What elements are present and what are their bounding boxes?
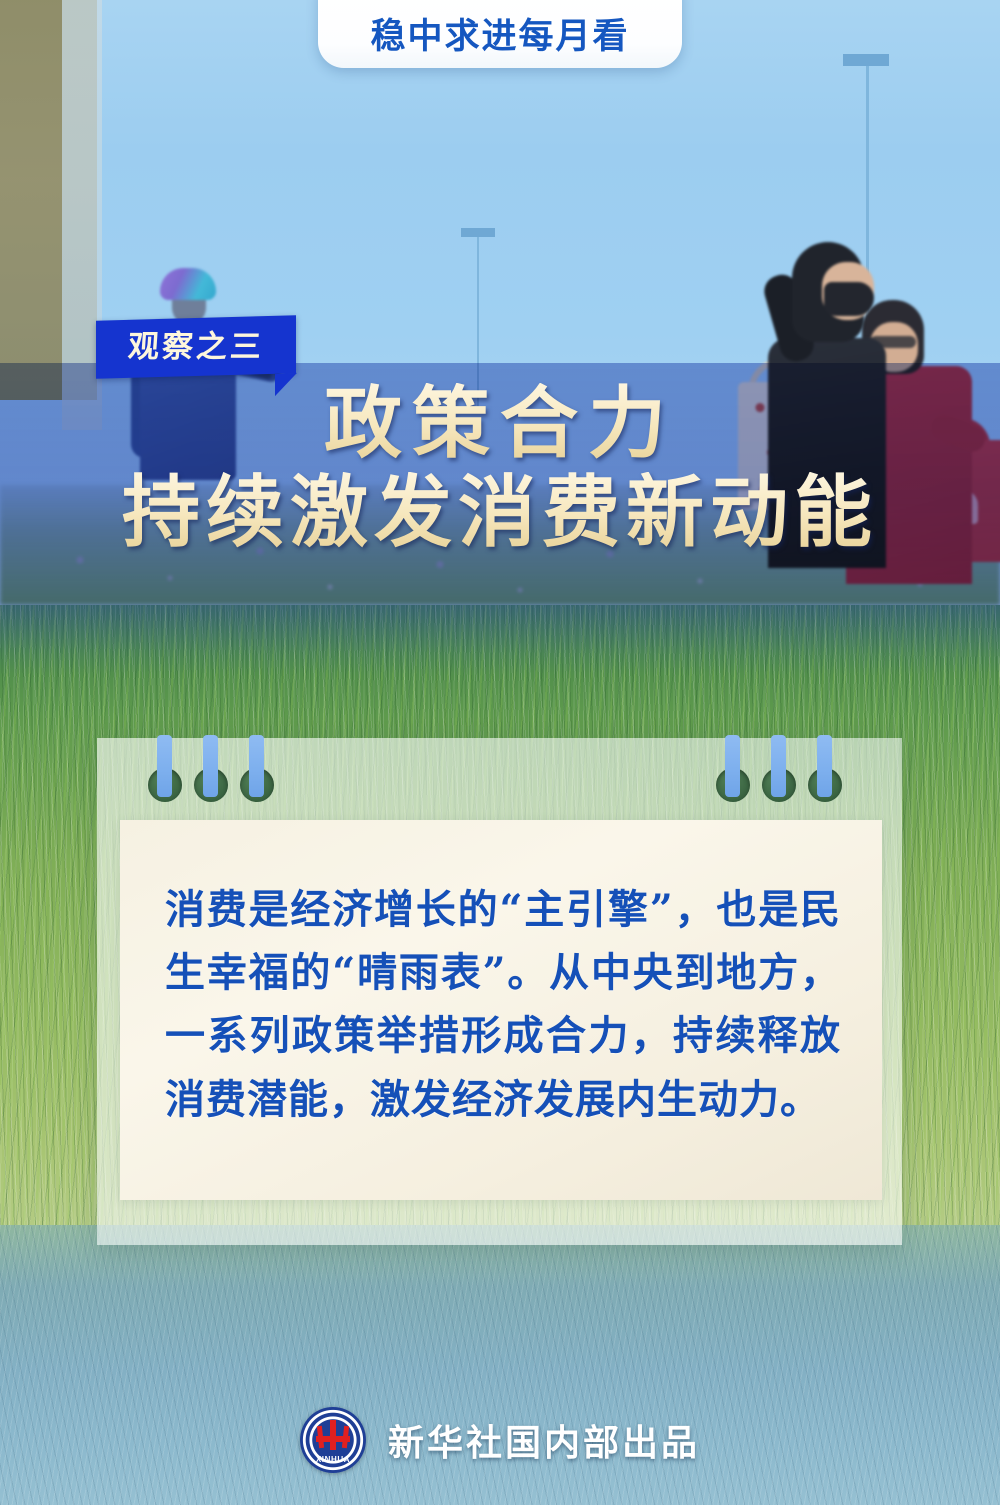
grass-top-haze [0,605,1000,675]
title-line-2: 持续激发消费新动能 [0,472,1000,555]
observation-ribbon: 观察之三 [96,318,296,376]
card-body-text: 消费是经济增长的“主引擎”，也是民生幸福的“晴雨表”。从中央到地方，一系列政策举… [165,878,841,1131]
binder-clip-right-1 [725,735,740,797]
xinhua-logo-wordmark: XINHUA [300,1455,366,1464]
title-line-1: 政策合力 [0,383,1000,466]
binder-clip-left-1 [157,735,172,797]
footer-producer-label: 新华社国内部出品 [388,1414,700,1466]
tower-arm-left [317,1426,324,1448]
footer: XINHUA 新华社国内部出品 [0,1400,1000,1480]
tower-arm-right [342,1426,349,1448]
ribbon-label: 观察之三 [127,332,265,363]
ribbon-body: 观察之三 [96,315,296,379]
xinhua-tower-mark [316,1420,350,1450]
lamp-head-right [843,54,889,66]
binder-clip-left-2 [203,735,218,797]
lamp-head-center [461,228,495,237]
binder-clip-right-2 [771,735,786,797]
bicycle-helmet [160,268,216,300]
header-badge: 稳中求进每月看 [318,0,682,68]
header-badge-label: 稳中求进每月看 [370,20,629,55]
binder-clip-left-3 [249,735,264,797]
poster-root: 稳中求进每月看 观察之三 政策合力 持续激发消费新动能 消费是经济增长的“主引擎… [0,0,1000,1505]
page-title: 政策合力 持续激发消费新动能 [0,383,1000,554]
face-mask [824,282,874,316]
xinhua-logo-icon: XINHUA [300,1407,366,1473]
binder-clip-right-3 [817,735,832,797]
